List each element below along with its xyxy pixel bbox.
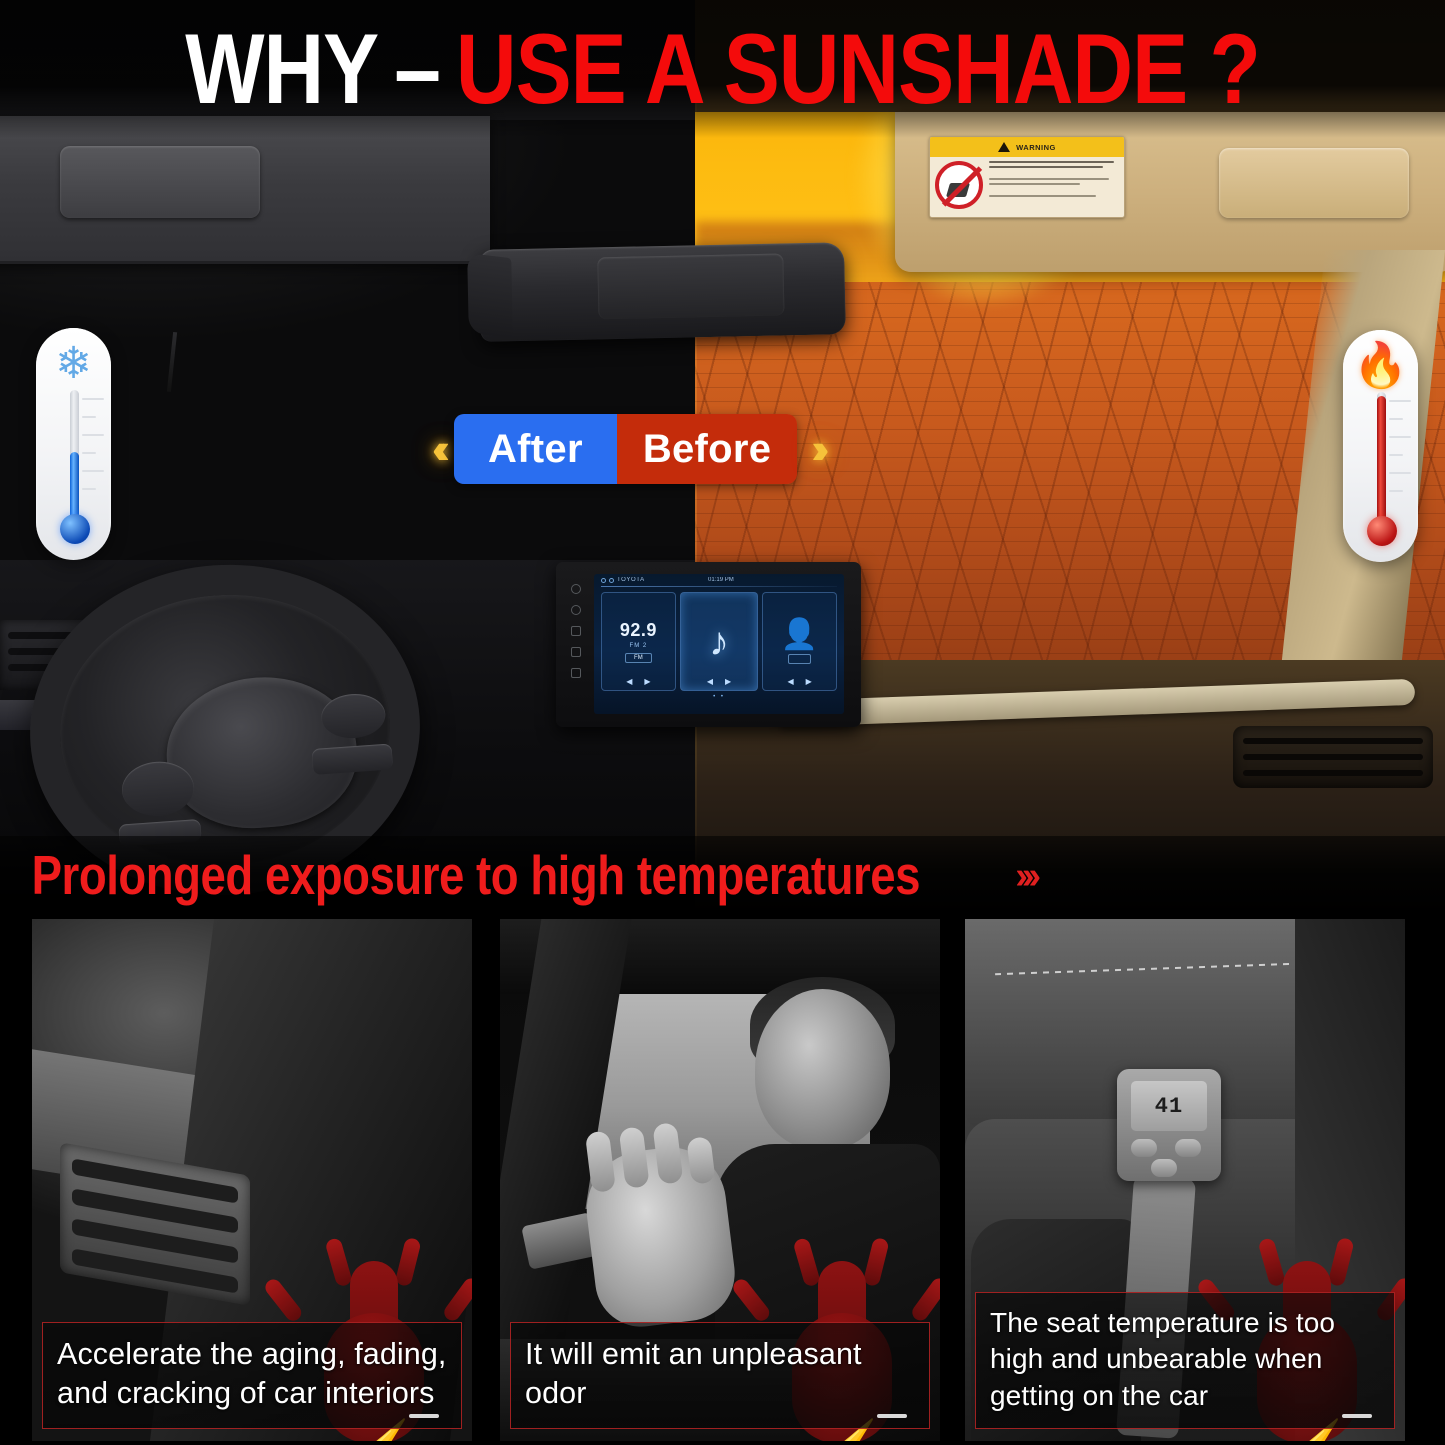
radio-preset-chip[interactable]: FM bbox=[625, 653, 652, 663]
thermometer-ticks-cold bbox=[82, 398, 104, 518]
panel-caption: Accelerate the aging, fading, and cracki… bbox=[42, 1322, 462, 1429]
no-child-seat-icon bbox=[935, 161, 983, 209]
chevron-right-triple-icon: ››› bbox=[1015, 855, 1035, 898]
radio-band: FM 2 bbox=[630, 643, 648, 649]
infrared-thermometer-gun: 41 bbox=[1117, 1069, 1221, 1181]
bluetooth-icon bbox=[601, 578, 606, 583]
phone-card[interactable]: 👤 ◀ ▶ bbox=[762, 592, 837, 691]
media-card[interactable]: ♪ ◀ ▶ bbox=[680, 592, 758, 691]
chevron-left-icon: ‹‹ bbox=[432, 428, 440, 470]
rearview-mirror bbox=[479, 242, 846, 342]
panel-caption-text: It will emit an unpleasant odor bbox=[525, 1335, 915, 1414]
infotainment-screen[interactable]: TOYOTA 01:19 PM 92.9 FM 2 FM ◀ ▶ bbox=[594, 574, 844, 714]
tagline-strip: Prolonged exposure to high temperatures … bbox=[0, 836, 1445, 916]
dashcam-module bbox=[597, 253, 784, 319]
brand-label: TOYOTA bbox=[617, 577, 645, 583]
title-phrase-red: USE A SUNSHADE ? bbox=[456, 14, 1260, 125]
steering-button-right-2 bbox=[312, 743, 394, 775]
next-icon[interactable]: ▶ bbox=[644, 677, 650, 686]
phone-controls[interactable]: ◀ ▶ bbox=[787, 677, 811, 686]
panel-odor: It will emit an unpleasant odor bbox=[500, 919, 940, 1441]
before-label: Before bbox=[617, 414, 798, 484]
warning-label-heading: WARNING bbox=[1016, 143, 1056, 152]
caption-underscore bbox=[409, 1414, 439, 1418]
thermometer-mercury-cold bbox=[70, 452, 79, 516]
thermometer-gun-display: 41 bbox=[1131, 1081, 1207, 1131]
caption-underscore bbox=[877, 1414, 907, 1418]
panel-caption-text: The seat temperature is too high and unb… bbox=[990, 1305, 1380, 1414]
thermometer-gun-reading: 41 bbox=[1155, 1094, 1183, 1119]
title-bar: WHY–USE A SUNSHADE ? bbox=[0, 0, 1445, 138]
thermometer-bulb-cold bbox=[60, 514, 90, 544]
media-controls[interactable]: ◀ ▶ bbox=[707, 677, 731, 686]
sun-visor-dark bbox=[0, 116, 490, 264]
title-dash: – bbox=[378, 14, 456, 125]
next-track-icon[interactable]: ▶ bbox=[725, 677, 731, 686]
warning-label-header: WARNING bbox=[930, 137, 1124, 157]
thermometer-mercury-hot bbox=[1377, 396, 1386, 518]
screen-card-row: 92.9 FM 2 FM ◀ ▶ ♪ ◀ ▶ bbox=[594, 587, 844, 691]
tagline-text: Prolonged exposure to high temperatures bbox=[0, 845, 920, 908]
infotainment-head-unit[interactable]: TOYOTA 01:19 PM 92.9 FM 2 FM ◀ ▶ bbox=[556, 562, 861, 727]
prev-track-icon[interactable]: ◀ bbox=[707, 677, 713, 686]
benefit-panels: Accelerate the aging, fading, and cracki… bbox=[0, 915, 1445, 1445]
panel-caption-text: Accelerate the aging, fading, and cracki… bbox=[57, 1335, 447, 1414]
warning-label-body bbox=[930, 157, 1124, 213]
music-note-icon: ♪ bbox=[709, 622, 729, 662]
airbag-warning-label: WARNING bbox=[929, 136, 1125, 218]
panel-caption: The seat temperature is too high and unb… bbox=[975, 1292, 1395, 1429]
thermometer-ticks-hot bbox=[1389, 400, 1411, 520]
next-contact-icon[interactable]: ▶ bbox=[806, 677, 812, 686]
snowflake-icon: ❄ bbox=[36, 342, 111, 386]
warning-label-text-lines bbox=[989, 161, 1119, 209]
air-vent-bright bbox=[1233, 726, 1433, 788]
radio-controls[interactable]: ◀ ▶ bbox=[626, 677, 650, 686]
wifi-icon bbox=[609, 578, 614, 583]
panel-seat-temperature: 41 The seat temperature is too high and … bbox=[965, 919, 1405, 1441]
cold-thermometer: ❄ bbox=[36, 328, 111, 560]
infographic-canvas: WARNING bbox=[0, 0, 1445, 1445]
panel-caption: It will emit an unpleasant odor bbox=[510, 1322, 930, 1429]
chevron-right-icon: ›› bbox=[811, 428, 819, 470]
radio-frequency: 92.9 bbox=[620, 620, 657, 641]
page-title: WHY–USE A SUNSHADE ? bbox=[185, 19, 1260, 118]
prev-icon[interactable]: ◀ bbox=[626, 677, 632, 686]
phone-chip[interactable] bbox=[788, 654, 811, 664]
clock-label: 01:19 PM bbox=[708, 577, 734, 583]
head-unit-side-buttons[interactable] bbox=[568, 584, 584, 678]
warning-triangle-icon bbox=[998, 142, 1010, 152]
screen-status-bar: TOYOTA 01:19 PM bbox=[594, 574, 844, 583]
person-icon: 👤 bbox=[781, 620, 818, 650]
panel-aging: Accelerate the aging, fading, and cracki… bbox=[32, 919, 472, 1441]
screen-brand: TOYOTA bbox=[601, 577, 645, 583]
after-label: After bbox=[454, 414, 617, 484]
prev-contact-icon[interactable]: ◀ bbox=[787, 677, 793, 686]
before-after-pill: After Before bbox=[454, 414, 797, 484]
caption-underscore bbox=[1342, 1414, 1372, 1418]
before-after-banner: ‹‹ After Before ›› bbox=[432, 413, 942, 485]
thermometer-bulb-hot bbox=[1367, 516, 1397, 546]
radio-card[interactable]: 92.9 FM 2 FM ◀ ▶ bbox=[601, 592, 676, 691]
flame-icon: 🔥 bbox=[1343, 344, 1418, 388]
before-after-hero: WARNING bbox=[0, 0, 1445, 915]
title-word-why: WHY bbox=[185, 14, 378, 125]
screen-pager[interactable]: • • bbox=[594, 691, 844, 700]
hot-thermometer: 🔥 bbox=[1343, 330, 1418, 562]
